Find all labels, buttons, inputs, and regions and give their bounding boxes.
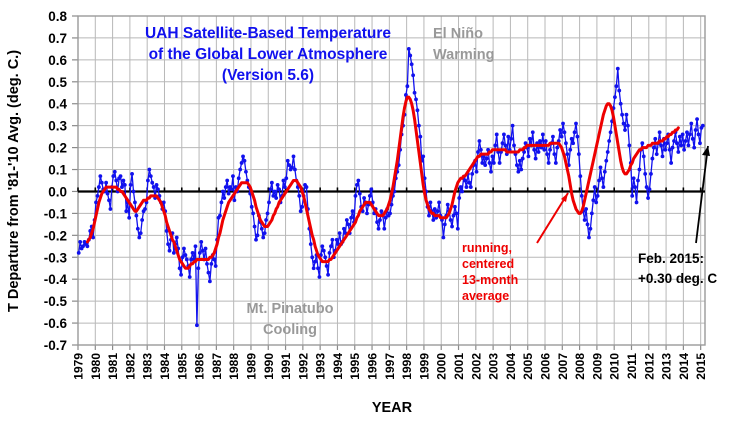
x-tick-label: 1997 — [383, 353, 397, 380]
x-tick-label: 2004 — [504, 353, 518, 380]
x-tick-label: 1983 — [141, 353, 155, 380]
pinatubo-line-2: Cooling — [263, 322, 317, 338]
x-tick-label: 1979 — [72, 353, 86, 380]
x-tick-label: 2009 — [590, 353, 604, 380]
y-tick-label: 0.2 — [48, 141, 67, 156]
y-tick-label: 0.8 — [48, 9, 67, 24]
x-tick-label: 2012 — [642, 353, 656, 380]
x-tick-label: 1980 — [89, 353, 103, 380]
x-tick-label: 1985 — [175, 353, 189, 380]
x-tick-label: 2015 — [694, 353, 708, 380]
chart-title-line-3: (Version 5.6) — [222, 67, 314, 84]
y-tick-label: -0.6 — [44, 316, 68, 331]
x-tick-label: 1981 — [106, 353, 120, 380]
running-avg-line-4: average — [462, 289, 509, 303]
x-tick-label: 2008 — [573, 353, 587, 380]
x-tick-label: 2001 — [452, 353, 466, 380]
temperature-anomaly-chart: T Departure from '81-'10 Avg. (deg. C.) … — [0, 0, 748, 432]
x-tick-label: 2013 — [660, 353, 674, 380]
x-tick-label: 2006 — [539, 353, 553, 380]
x-tick-label: 2007 — [556, 353, 570, 380]
y-tick-label: 0.6 — [48, 53, 67, 68]
el-nino-line-2: Warming — [433, 47, 495, 63]
y-tick-label: -0.4 — [44, 272, 68, 287]
x-tick-label: 1998 — [400, 353, 414, 380]
y-tick-label: -0.5 — [44, 294, 68, 309]
x-tick-label: 1991 — [279, 353, 293, 380]
x-tick-label: 2000 — [435, 353, 449, 380]
x-tick-label: 2014 — [677, 353, 691, 380]
running-avg-line-2: centered — [462, 257, 514, 271]
x-tick-label: 2005 — [521, 353, 535, 380]
x-tick-label: 1990 — [262, 353, 276, 380]
pinatubo-line-1: Mt. Pinatubo — [247, 301, 334, 317]
x-tick-label: 1984 — [158, 353, 172, 380]
x-tick-label: 2010 — [608, 353, 622, 380]
y-tick-label: 0.7 — [48, 31, 67, 46]
x-tick-label: 2011 — [625, 353, 639, 379]
y-axis-title: T Departure from '81-'10 Avg. (deg. C.) — [6, 50, 22, 312]
x-axis-ticks: 1979198019811982198319841985198619871988… — [72, 353, 709, 380]
y-tick-label: -0.2 — [44, 228, 67, 243]
running-avg-line-1: running, — [462, 241, 512, 255]
el-nino-line-1: El Niño — [433, 26, 483, 42]
feb-2015-line-2: +0.30 deg. C — [638, 271, 717, 286]
x-tick-label: 1986 — [193, 353, 207, 380]
x-tick-label: 1993 — [314, 353, 328, 380]
chart-figure: T Departure from '81-'10 Avg. (deg. C.) … — [0, 0, 748, 432]
y-tick-label: 0.1 — [48, 163, 67, 178]
x-tick-label: 1992 — [296, 353, 310, 380]
x-tick-label: 1988 — [227, 353, 241, 380]
x-axis-title: YEAR — [372, 400, 413, 416]
x-tick-label: 1994 — [331, 353, 345, 380]
chart-title-line-2: of the Global Lower Atmosphere — [149, 46, 388, 63]
y-tick-label: 0.0 — [48, 184, 67, 199]
y-tick-label: 0.3 — [48, 119, 67, 134]
x-tick-label: 2002 — [469, 353, 483, 380]
chart-title-line-1: UAH Satellite-Based Temperature — [145, 25, 391, 42]
x-tick-label: 1987 — [210, 353, 224, 380]
y-tick-label: 0.4 — [48, 97, 67, 112]
x-tick-label: 1982 — [123, 353, 137, 380]
y-tick-label: 0.5 — [48, 75, 67, 90]
x-tick-label: 2003 — [487, 353, 501, 380]
x-tick-label: 1995 — [348, 353, 362, 380]
y-tick-label: -0.7 — [44, 338, 67, 353]
x-tick-label: 1989 — [244, 353, 258, 380]
feb-2015-line-1: Feb. 2015: — [638, 251, 704, 266]
running-avg-line-3: 13-month — [462, 273, 518, 287]
x-tick-label: 1996 — [366, 353, 380, 380]
x-tick-label: 1999 — [417, 353, 431, 380]
y-tick-label: -0.1 — [44, 206, 68, 221]
y-tick-label: -0.3 — [44, 250, 68, 265]
